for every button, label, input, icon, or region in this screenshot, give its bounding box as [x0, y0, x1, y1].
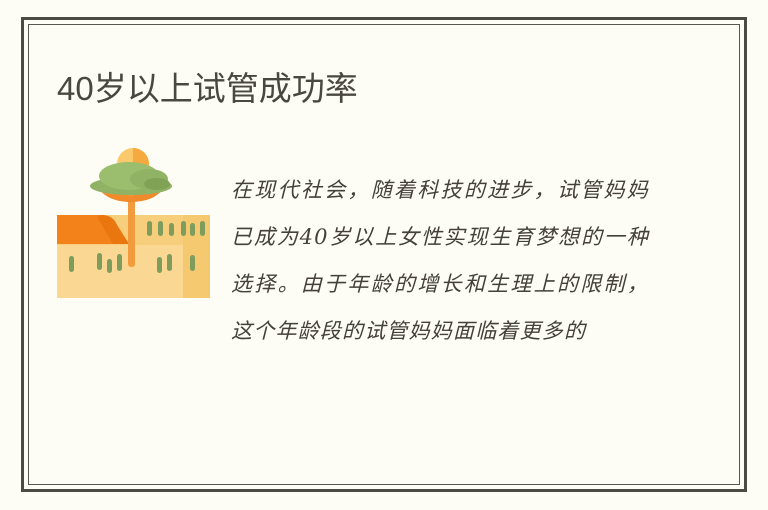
- savanna-tree-illustration: [57, 143, 210, 298]
- page-title: 40岁以上试管成功率: [57, 62, 358, 110]
- article-page: 40岁以上试管成功率: [0, 0, 768, 510]
- tree-canopy: [90, 162, 172, 195]
- article-body-text: 在现代社会，随着科技的进步，试管妈妈已成为40岁以上女性实现生育梦想的一种选择。…: [231, 167, 649, 355]
- ground-right-slab: [183, 215, 210, 298]
